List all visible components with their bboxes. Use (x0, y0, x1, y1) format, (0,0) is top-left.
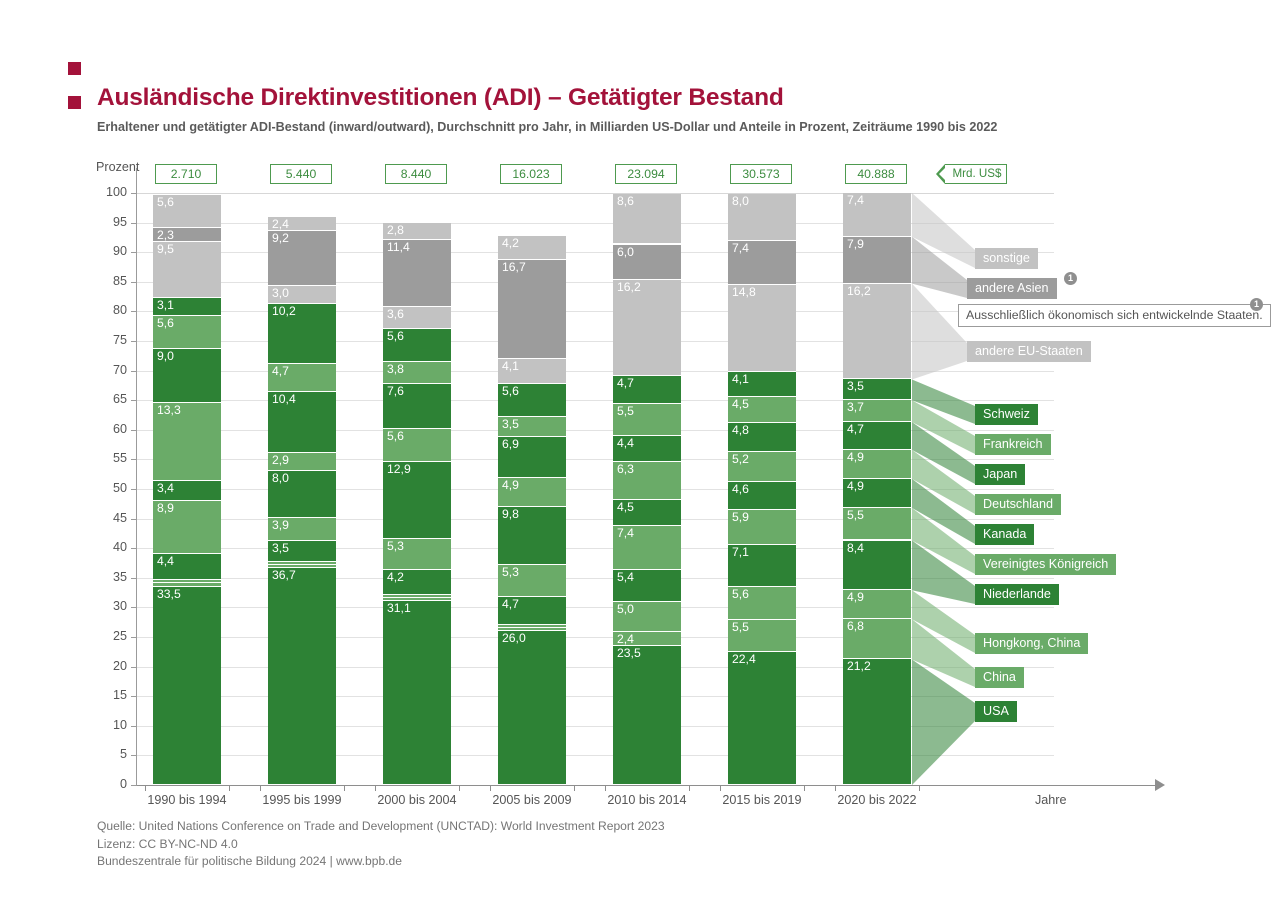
bar-segment[interactable]: 4,1 (498, 359, 566, 383)
bar-segment-value: 5,4 (617, 570, 634, 585)
footnote-marker-legend[interactable]: 1 (1064, 272, 1077, 285)
legend-connector (912, 193, 975, 268)
bar-segment-value: 5,9 (732, 510, 749, 525)
bar-segment[interactable]: 4,9 (843, 590, 911, 619)
bar-segment-value: 4,1 (502, 359, 519, 374)
y-axis-label: 85 (85, 274, 127, 288)
legend-item-frankreich[interactable]: Frankreich (975, 434, 1051, 455)
bar-segment[interactable] (383, 598, 451, 601)
x-axis-category-label: 2010 bis 2014 (583, 793, 711, 807)
bar-segment[interactable]: 5,6 (153, 195, 221, 228)
legend-item-andere-eu-staaten[interactable]: andere EU-Staaten (967, 341, 1091, 362)
bar-segment-value: 8,0 (732, 194, 749, 209)
bar-segment-value: 4,8 (732, 423, 749, 438)
bar-segment-value: 3,5 (272, 541, 289, 556)
bar-segment-value: 6,0 (617, 245, 634, 260)
total-value-box: 16.023 (500, 164, 562, 184)
x-axis-arrow-icon (1155, 779, 1165, 791)
x-axis-tick (835, 785, 836, 791)
bar-segment-value: 3,1 (157, 298, 174, 313)
y-axis-label: 25 (85, 629, 127, 643)
bar-segment[interactable] (153, 583, 221, 587)
bar-column[interactable]: 26,04,75,39,84,96,93,55,64,116,74,2 (498, 193, 566, 785)
legend-connector (912, 590, 975, 653)
bar-segment[interactable]: 3,5 (843, 379, 911, 400)
x-axis-tick (919, 785, 920, 791)
bar-segment[interactable]: 5,2 (728, 452, 796, 483)
bar-segment[interactable]: 16,2 (843, 284, 911, 380)
unit-flag: Mrd. US$ (937, 164, 1007, 184)
bar-segment-value: 3,4 (157, 481, 174, 496)
bar-segment-value: 5,6 (732, 587, 749, 602)
bar-segment-value: 9,5 (157, 242, 174, 257)
bar-segment[interactable]: 4,7 (498, 597, 566, 625)
bar-segment[interactable]: 8,6 (613, 194, 681, 245)
bar-segment[interactable]: 14,8 (728, 285, 796, 373)
bar-segment-value: 5,5 (732, 620, 749, 635)
bar-segment[interactable] (153, 580, 221, 583)
total-value-box: 8.440 (385, 164, 447, 184)
bar-column[interactable]: 33,54,48,93,413,39,05,63,19,52,35,6 (153, 193, 221, 785)
y-axis-label: 60 (85, 422, 127, 436)
bar-segment[interactable]: 5,4 (613, 570, 681, 602)
bar-segment[interactable]: 6,3 (613, 462, 681, 499)
y-axis-label: 90 (85, 244, 127, 258)
x-axis-tick (720, 785, 721, 791)
bar-segment[interactable]: 3,1 (153, 298, 221, 316)
bar-segment[interactable]: 7,4 (728, 241, 796, 285)
bar-segment-value: 4,7 (617, 376, 634, 391)
bar-segment[interactable]: 9,2 (268, 231, 336, 285)
bar-segment[interactable]: 10,4 (268, 392, 336, 454)
bar-segment[interactable]: 7,4 (613, 526, 681, 570)
bar-segment-value: 4,5 (732, 397, 749, 412)
bar-segment[interactable]: 4,2 (498, 236, 566, 261)
bar-segment-value: 33,5 (157, 587, 181, 602)
total-value-box: 2.710 (155, 164, 217, 184)
bar-segment[interactable]: 5,6 (728, 587, 796, 620)
bar-segment[interactable]: 8,4 (843, 541, 911, 591)
bar-segment-value: 5,0 (617, 602, 634, 617)
bar-segment-value: 26,0 (502, 631, 526, 646)
bar-segment-value: 3,0 (272, 286, 289, 301)
bar-segment[interactable]: 16,2 (613, 280, 681, 376)
bar-segment-value: 23,5 (617, 646, 641, 661)
bar-segment[interactable] (268, 562, 336, 565)
bar-segment-value: 31,1 (387, 601, 411, 616)
legend-connector (912, 400, 975, 454)
bar-segment-value: 4,6 (732, 482, 749, 497)
bar-segment-value: 9,8 (502, 507, 519, 522)
legend-item-hongkong-china[interactable]: Hongkong, China (975, 633, 1088, 654)
bar-segment[interactable]: 3,9 (268, 518, 336, 541)
bar-segment-value: 4,5 (617, 500, 634, 515)
bar-segment-value: 6,9 (502, 437, 519, 452)
bar-segment[interactable]: 4,9 (843, 450, 911, 479)
bar-segment[interactable]: 3,6 (383, 307, 451, 328)
bar-segment[interactable]: 12,9 (383, 462, 451, 538)
bar-segment-value: 4,9 (847, 590, 864, 605)
y-axis-label: 75 (85, 333, 127, 347)
legend-connector (912, 422, 975, 484)
legend-item-andere-asien[interactable]: andere Asien (967, 278, 1057, 299)
bar-column[interactable]: 36,73,53,98,02,910,44,710,23,09,22,4 (268, 193, 336, 785)
bar-segment[interactable]: 7,1 (728, 545, 796, 587)
bar-segment-value: 7,9 (847, 237, 864, 252)
legend-item-schweiz[interactable]: Schweiz (975, 404, 1038, 425)
legend-item-deutschland[interactable]: Deutschland (975, 494, 1061, 515)
bar-segment-value: 3,5 (502, 417, 519, 432)
bar-segment-value: 7,4 (617, 526, 634, 541)
bar-segment[interactable]: 4,8 (728, 423, 796, 451)
x-axis-tick (344, 785, 345, 791)
bar-segment-value: 4,1 (732, 372, 749, 387)
bar-segment-value: 3,7 (847, 400, 864, 415)
bar-segment-value: 2,4 (617, 632, 634, 646)
footer-license: Lizenz: CC BY-NC-ND 4.0 (97, 836, 665, 854)
y-axis-title: Prozent (96, 160, 139, 174)
bar-segment[interactable]: 5,6 (498, 384, 566, 417)
legend-connector (912, 541, 975, 604)
x-axis-category-label: 1990 bis 1994 (123, 793, 251, 807)
bar-column[interactable]: 23,52,45,05,47,44,56,34,45,54,716,26,08,… (613, 193, 681, 785)
bar-segment[interactable]: 7,4 (843, 193, 911, 237)
bar-segment-value: 7,1 (732, 545, 749, 560)
bar-segment[interactable]: 2,3 (153, 228, 221, 242)
legend-connector (912, 237, 967, 298)
legend-item-usa[interactable]: USA (975, 701, 1017, 722)
bar-segment-value: 5,6 (387, 329, 404, 344)
bar-segment-value: 8,4 (847, 541, 864, 556)
bar-segment-value: 36,7 (272, 568, 296, 583)
y-axis-label: 15 (85, 688, 127, 702)
bar-segment[interactable]: 4,5 (728, 397, 796, 424)
bar-segment[interactable]: 26,0 (498, 631, 566, 785)
x-axis-tick (145, 785, 146, 791)
bar-segment[interactable]: 2,9 (268, 453, 336, 470)
legend-item-niederlande[interactable]: Niederlande (975, 584, 1059, 605)
bar-segment[interactable]: 8,9 (153, 501, 221, 554)
bar-segment-value: 6,3 (617, 462, 634, 477)
bar-segment[interactable] (498, 628, 566, 632)
bar-segment-value: 6,8 (847, 619, 864, 634)
bar-segment[interactable]: 5,3 (498, 565, 566, 596)
bar-column[interactable]: 31,14,25,312,95,67,63,85,63,611,42,8 (383, 193, 451, 785)
y-axis-label: 65 (85, 392, 127, 406)
bar-segment[interactable]: 2,4 (268, 217, 336, 231)
bar-segment[interactable]: 4,7 (268, 364, 336, 392)
bar-segment[interactable]: 4,7 (843, 422, 911, 450)
y-axis-label: 35 (85, 570, 127, 584)
x-axis-category-label: 2000 bis 2004 (353, 793, 481, 807)
bar-segment-value: 16,7 (502, 260, 526, 275)
y-axis-label: 5 (85, 747, 127, 761)
bar-segment[interactable]: 3,4 (153, 481, 221, 501)
bar-segment-value: 9,2 (272, 231, 289, 246)
bar-segment[interactable]: 4,2 (383, 570, 451, 595)
bar-segment[interactable]: 7,6 (383, 384, 451, 429)
bar-segment[interactable]: 9,8 (498, 507, 566, 565)
bar-segment-value: 4,4 (617, 436, 634, 451)
bar-segment-value: 8,6 (617, 194, 634, 209)
bar-segment[interactable]: 4,6 (728, 482, 796, 509)
decorative-square-title (68, 96, 81, 109)
bar-segment-value: 22,4 (732, 652, 756, 667)
bar-segment[interactable]: 5,5 (613, 404, 681, 437)
bar-segment[interactable]: 9,0 (153, 349, 221, 402)
bar-segment-value: 10,4 (272, 392, 296, 407)
bar-segment-value: 4,2 (387, 570, 404, 585)
y-axis-label: 0 (85, 777, 127, 791)
y-axis-label: 100 (85, 185, 127, 199)
total-value-box: 40.888 (845, 164, 907, 184)
bar-column[interactable]: 21,26,84,98,45,54,94,94,73,73,516,27,97,… (843, 193, 911, 785)
bar-segment-value: 3,9 (272, 518, 289, 533)
bar-segment-value: 4,7 (272, 364, 289, 379)
bar-segment-value: 10,2 (272, 304, 296, 319)
bar-segment[interactable]: 3,5 (268, 541, 336, 562)
y-axis-label: 50 (85, 481, 127, 495)
bar-segment-value: 2,4 (272, 217, 289, 231)
legend-connector (912, 284, 967, 380)
legend-item-china[interactable]: China (975, 667, 1024, 688)
x-axis-category-label: 2005 bis 2009 (468, 793, 596, 807)
bar-segment[interactable]: 13,3 (153, 403, 221, 482)
bar-segment[interactable] (498, 625, 566, 628)
bar-segment-value: 2,8 (387, 223, 404, 238)
bar-segment[interactable]: 36,7 (268, 568, 336, 785)
bar-segment[interactable]: 4,7 (613, 376, 681, 404)
x-axis-tick (689, 785, 690, 791)
bar-segment-value: 5,2 (732, 452, 749, 467)
bar-segment[interactable]: 16,7 (498, 260, 566, 359)
x-axis-tick (375, 785, 376, 791)
x-axis-tick (574, 785, 575, 791)
bar-segment-value: 9,0 (157, 349, 174, 364)
bar-segment[interactable]: 8,0 (728, 194, 796, 241)
bar-segment-value: 5,6 (157, 316, 174, 331)
footnote-marker-note: 1 (1250, 298, 1263, 311)
bar-segment[interactable]: 3,0 (268, 286, 336, 304)
bar-segment-value: 5,5 (617, 404, 634, 419)
legend-connector (912, 619, 975, 687)
x-axis-line (137, 785, 1159, 786)
bar-segment-value: 4,7 (847, 422, 864, 437)
bar-segment[interactable]: 6,9 (498, 437, 566, 478)
x-axis-tick (260, 785, 261, 791)
bar-segment-value: 11,4 (387, 240, 410, 255)
x-axis-category-label: 1995 bis 1999 (238, 793, 366, 807)
legend-connector (912, 659, 975, 785)
bar-column[interactable]: 22,45,55,67,15,94,65,24,84,54,114,87,48,… (728, 193, 796, 785)
bar-segment[interactable]: 4,9 (843, 479, 911, 508)
bar-segment[interactable]: 5,0 (613, 602, 681, 632)
bar-segment-value: 8,0 (272, 471, 289, 486)
bar-segment[interactable]: 5,6 (153, 316, 221, 349)
bar-segment[interactable]: 7,9 (843, 237, 911, 284)
bar-segment[interactable]: 5,6 (383, 329, 451, 362)
bar-segment[interactable] (383, 595, 451, 598)
bar-segment[interactable]: 5,3 (383, 539, 451, 570)
bar-segment[interactable]: 4,4 (153, 554, 221, 580)
x-axis-tick (490, 785, 491, 791)
bar-segment[interactable]: 2,4 (613, 632, 681, 646)
bar-segment-value: 14,8 (732, 285, 756, 300)
legend-connector (912, 379, 975, 424)
bar-segment-value: 21,2 (847, 659, 871, 674)
y-axis-label: 95 (85, 215, 127, 229)
x-axis-tick (605, 785, 606, 791)
x-axis-category-label: 2020 bis 2022 (813, 793, 941, 807)
bar-segment[interactable]: 33,5 (153, 587, 221, 785)
y-axis-label: 80 (85, 303, 127, 317)
bar-segment[interactable]: 4,9 (498, 478, 566, 507)
bar-segment[interactable]: 8,0 (268, 471, 336, 518)
y-axis-label: 45 (85, 511, 127, 525)
bar-segment[interactable]: 9,5 (153, 242, 221, 298)
bar-segment-value: 5,6 (387, 429, 404, 444)
legend-connector (912, 508, 975, 574)
bar-segment[interactable]: 5,5 (728, 620, 796, 653)
bar-segment[interactable]: 4,4 (613, 436, 681, 462)
footer-source: Quelle: United Nations Conference on Tra… (97, 818, 665, 836)
y-axis-label: 30 (85, 599, 127, 613)
bar-segment-value: 4,2 (502, 236, 519, 251)
legend-item-sonstige[interactable]: sonstige (975, 248, 1038, 269)
bar-segment-value: 3,8 (387, 362, 404, 377)
bar-segment-value: 3,6 (387, 307, 404, 322)
bar-segment-value: 5,6 (157, 195, 174, 210)
bar-segment[interactable]: 3,8 (383, 362, 451, 384)
bar-segment[interactable]: 10,2 (268, 304, 336, 364)
footer-publisher: Bundeszentrale für politische Bildung 20… (97, 853, 665, 871)
unit-flag-label: Mrd. US$ (947, 164, 1007, 184)
bar-segment[interactable]: 31,1 (383, 601, 451, 785)
bar-segment[interactable]: 23,5 (613, 646, 681, 785)
bar-segment-value: 4,4 (157, 554, 174, 569)
bar-segment[interactable]: 22,4 (728, 652, 796, 785)
bar-segment[interactable]: 4,5 (613, 500, 681, 527)
legend-item-japan[interactable]: Japan (975, 464, 1025, 485)
bar-segment-value: 2,3 (157, 228, 174, 242)
total-value-box: 23.094 (615, 164, 677, 184)
bar-segment-value: 5,3 (387, 539, 404, 554)
bar-segment-value: 7,6 (387, 384, 404, 399)
bar-segment-value: 13,3 (157, 403, 181, 418)
bar-segment[interactable]: 5,6 (383, 429, 451, 462)
bar-segment-value: 4,7 (502, 597, 519, 612)
bar-segment[interactable]: 5,9 (728, 510, 796, 545)
bar-segment[interactable]: 3,5 (498, 417, 566, 438)
bar-segment-value: 5,5 (847, 508, 864, 523)
x-axis-tick (459, 785, 460, 791)
y-axis-label: 20 (85, 659, 127, 673)
bar-segment[interactable]: 6,0 (613, 245, 681, 281)
page-subtitle: Erhaltener und getätigter ADI-Bestand (i… (97, 120, 997, 134)
bar-segment[interactable]: 2,8 (383, 223, 451, 240)
legend-item-vereinigtes-k-nigreich[interactable]: Vereinigtes Königreich (975, 554, 1116, 575)
bar-segment[interactable]: 5,5 (843, 508, 911, 541)
x-axis-tick (229, 785, 230, 791)
bar-segment-value: 4,9 (847, 479, 864, 494)
x-axis-tick (804, 785, 805, 791)
bar-segment-value: 7,4 (732, 241, 749, 256)
page-title: Ausländische Direktinvestitionen (ADI) –… (97, 84, 784, 112)
bar-segment-value: 12,9 (387, 462, 411, 477)
bar-segment[interactable] (268, 565, 336, 568)
y-axis-label: 70 (85, 363, 127, 377)
bar-segment-value: 5,3 (502, 565, 519, 580)
x-axis-category-label: 2015 bis 2019 (698, 793, 826, 807)
bar-segment-value: 7,4 (847, 193, 864, 208)
legend-item-kanada[interactable]: Kanada (975, 524, 1034, 545)
bar-segment-value: 4,9 (847, 450, 864, 465)
y-axis-label: 40 (85, 540, 127, 554)
total-value-box: 5.440 (270, 164, 332, 184)
bar-segment[interactable]: 11,4 (383, 240, 451, 307)
bar-segment[interactable]: 21,2 (843, 659, 911, 785)
bar-segment[interactable]: 6,8 (843, 619, 911, 659)
bar-segment-value: 2,9 (272, 453, 289, 468)
x-axis-title: Jahre (1035, 793, 1067, 807)
bar-segment[interactable]: 4,1 (728, 372, 796, 396)
decorative-square-small (68, 62, 81, 75)
footer-block: Quelle: United Nations Conference on Tra… (97, 818, 665, 871)
footnote-box: Ausschließlich ökonomisch sich entwickel… (958, 304, 1271, 327)
bar-segment-value: 8,9 (157, 501, 174, 516)
y-axis-label: 10 (85, 718, 127, 732)
bar-segment-value: 16,2 (847, 284, 871, 299)
bar-segment-value: 16,2 (617, 280, 641, 295)
bar-segment[interactable]: 3,7 (843, 400, 911, 422)
y-axis-label: 55 (85, 451, 127, 465)
total-value-box: 30.573 (730, 164, 792, 184)
y-axis-line (136, 168, 137, 785)
bar-segment-value: 3,5 (847, 379, 864, 394)
bar-segment-value: 5,6 (502, 384, 519, 399)
bar-segment-value: 4,9 (502, 478, 519, 493)
